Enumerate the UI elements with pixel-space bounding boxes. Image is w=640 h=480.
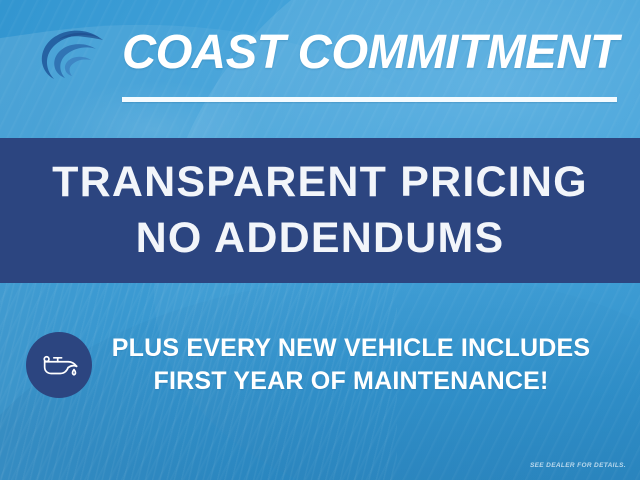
promo-line-1: PLUS EVERY NEW VEHICLE INCLUDES <box>112 332 591 365</box>
promo-text-block: PLUS EVERY NEW VEHICLE INCLUDES FIRST YE… <box>108 332 640 398</box>
promo-section: PLUS EVERY NEW VEHICLE INCLUDES FIRST YE… <box>0 322 640 408</box>
oil-can-icon <box>26 332 92 398</box>
headline-line-1: TRANSPARENT PRICING <box>52 155 588 210</box>
headline-banner: TRANSPARENT PRICING NO ADDENDUMS <box>0 138 640 283</box>
page-title: COAST COMMITMENT <box>122 22 615 84</box>
headline-line-2: NO ADDENDUMS <box>136 211 505 266</box>
disclaimer-text: SEE DEALER FOR DETAILS. <box>530 462 626 469</box>
promo-line-2: FIRST YEAR OF MAINTENANCE! <box>153 365 548 398</box>
coast-commitment-ad: COAST COMMITMENT TRANSPARENT PRICING NO … <box>0 0 640 480</box>
coast-wave-swirl-icon <box>34 22 108 96</box>
ad-header: COAST COMMITMENT <box>0 0 640 138</box>
header-divider <box>122 97 617 102</box>
